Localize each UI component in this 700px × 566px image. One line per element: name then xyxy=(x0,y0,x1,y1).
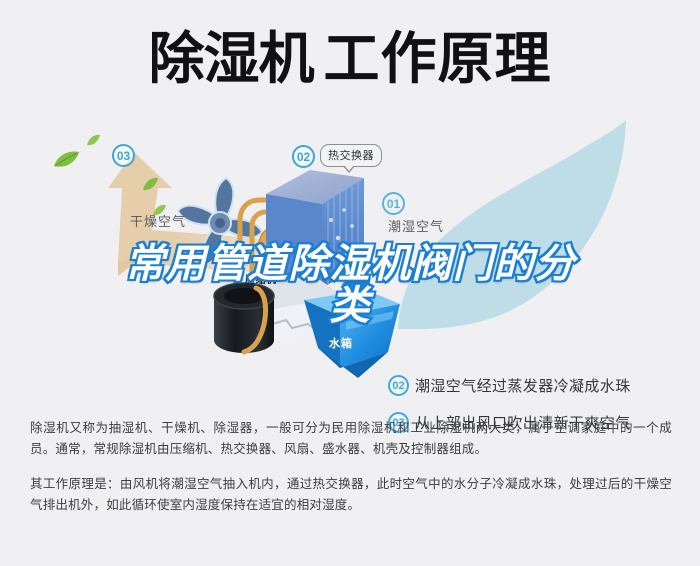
article-body: 除湿机又称为抽湿机、干燥机、除湿器，一般可分为民用除湿机和工业除湿机两大类，属于… xyxy=(30,418,672,530)
legend-item: 02 潮湿空气经过蒸发器冷凝成水珠 xyxy=(388,370,678,400)
label-water-tank: 水箱 xyxy=(329,335,353,351)
legend-badge: 02 xyxy=(388,375,409,396)
badge-heat-exchanger: 02 xyxy=(292,145,315,168)
overlay-title: 常用管道除湿机阀门的分 类 xyxy=(0,243,700,327)
page-title-part-a: 除湿机 xyxy=(149,27,314,90)
overlay-title-line1: 常用管道除湿机阀门的分 xyxy=(0,243,700,285)
leaf-icon xyxy=(52,150,80,170)
label-humid-air: 潮湿空气 xyxy=(388,216,444,235)
leaf-icon xyxy=(86,134,101,147)
page-title: 除湿机工作原理 xyxy=(0,26,700,92)
page-root: 除湿机工作原理 xyxy=(0,0,700,566)
page-title-part-b: 工作原理 xyxy=(324,27,552,90)
body-paragraph-2: 其工作原理是：由风机将潮湿空气抽入机内，通过热交换器，此时空气中的水分子冷凝成水… xyxy=(30,474,672,516)
label-dry-air: 干燥空气 xyxy=(130,211,186,230)
leaf-icon xyxy=(142,177,159,192)
badge-humid-air: 01 xyxy=(382,192,405,215)
body-paragraph-1: 除湿机又称为抽湿机、干燥机、除湿器，一般可分为民用除湿机和工业除湿机两大类，属于… xyxy=(30,418,672,460)
legend-label: 潮湿空气经过蒸发器冷凝成水珠 xyxy=(415,375,631,396)
heat-exchanger-callout: 热交换器 xyxy=(320,144,382,167)
badge-dry-air: 03 xyxy=(112,144,135,167)
overlay-title-line2: 类 xyxy=(0,285,700,327)
